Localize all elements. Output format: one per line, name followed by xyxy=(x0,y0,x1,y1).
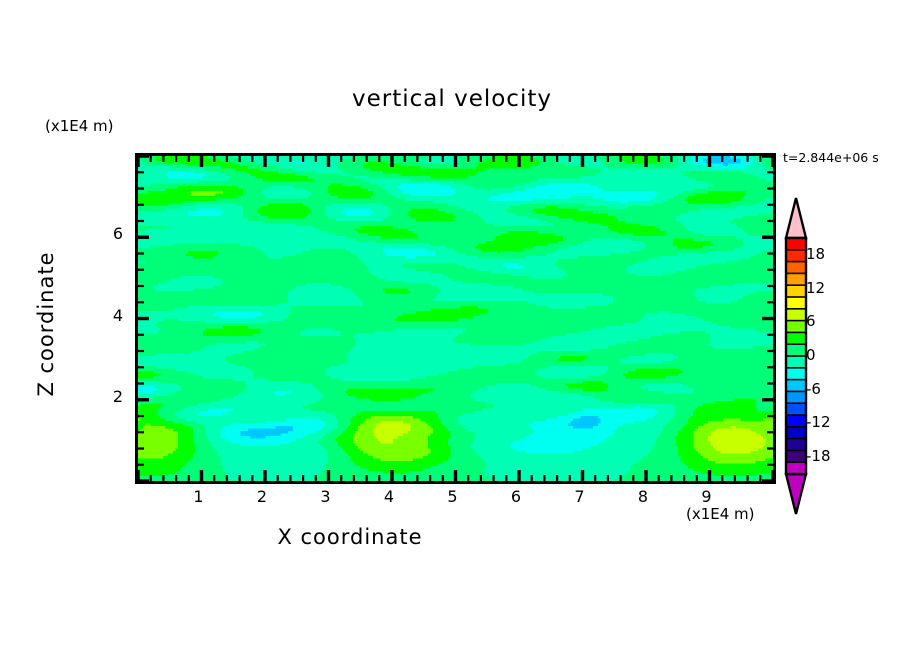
y-tick-label: 2 xyxy=(93,387,123,406)
y-tick-label: 4 xyxy=(93,306,123,325)
x-axis-unit-label: (x1E4 m) xyxy=(686,505,755,523)
x-tick-label: 1 xyxy=(184,487,214,506)
x-tick-label: 6 xyxy=(501,487,531,506)
z-axis-unit-label: (x1E4 m) xyxy=(45,117,114,135)
plot-area[interactable] xyxy=(135,153,776,484)
colorbar-tick-label: 18 xyxy=(806,245,825,263)
x-tick-label: 4 xyxy=(374,487,404,506)
x-tick-label: 9 xyxy=(692,487,722,506)
time-annotation: t=2.844e+06 s xyxy=(783,150,879,165)
x-tick-label: 2 xyxy=(247,487,277,506)
colorbar-tick-label: 6 xyxy=(806,312,816,330)
colorbar-tick-label: 0 xyxy=(806,346,816,364)
colorbar-tick-label: -6 xyxy=(806,380,821,398)
y-tick-label: 6 xyxy=(93,224,123,243)
y-axis-title: Z coordinate xyxy=(34,214,58,434)
colorbar-tick-label: -18 xyxy=(806,447,831,465)
x-tick-label: 3 xyxy=(311,487,341,506)
contour-field xyxy=(138,156,773,481)
x-tick-label: 7 xyxy=(565,487,595,506)
colorbar-tick-label: 12 xyxy=(806,279,825,297)
colorbar-tick-label: -12 xyxy=(806,413,831,431)
x-axis-title: X coordinate xyxy=(0,525,700,549)
x-tick-label: 8 xyxy=(628,487,658,506)
chart-title: vertical velocity xyxy=(0,86,904,112)
x-tick-label: 5 xyxy=(438,487,468,506)
